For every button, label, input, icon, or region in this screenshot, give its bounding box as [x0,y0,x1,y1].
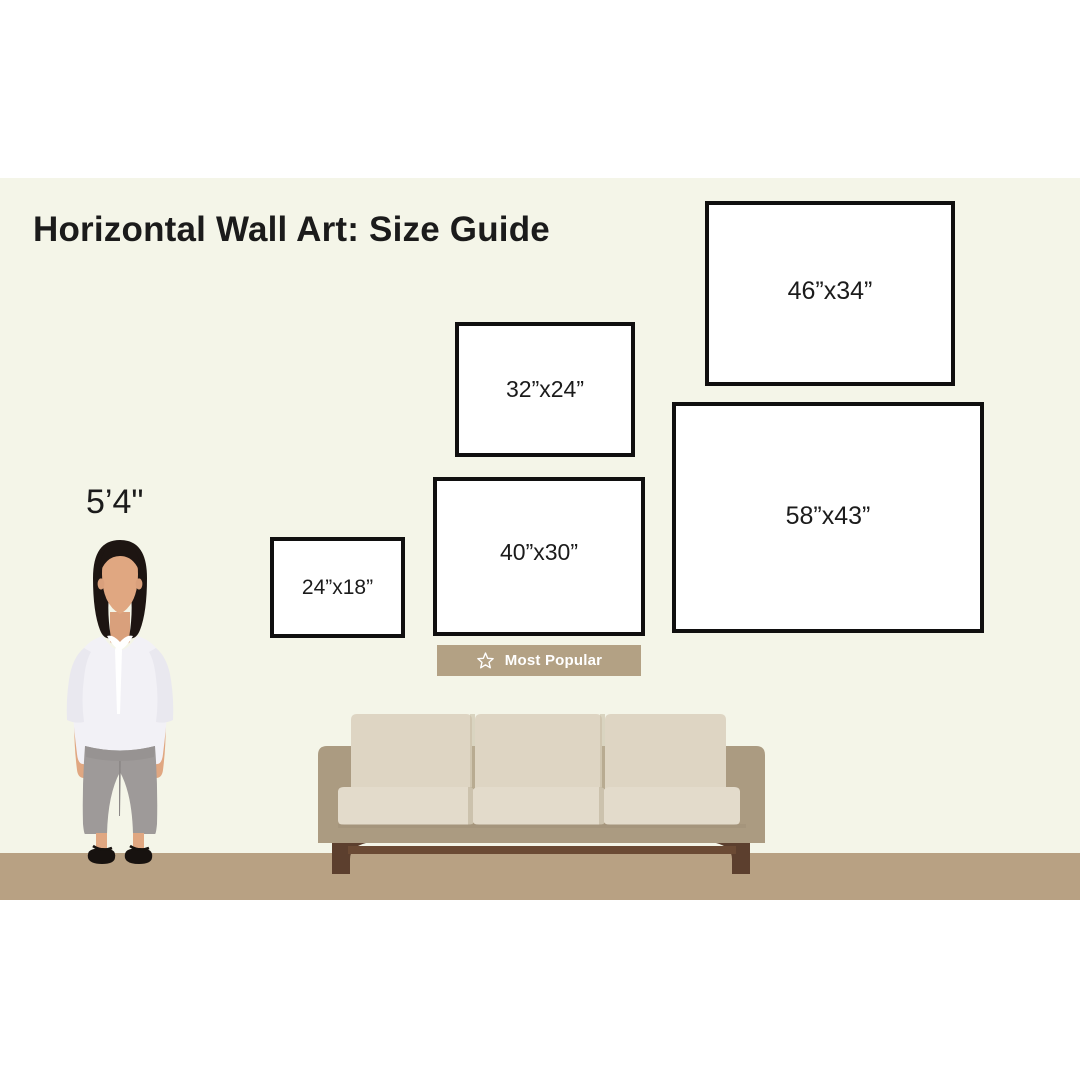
star-icon [476,651,495,670]
most-popular-label: Most Popular [505,652,602,669]
standing-woman-figure [55,536,185,870]
frame-46x34-label: 46”x34” [788,277,873,306]
most-popular-badge[interactable]: Most Popular [437,645,641,676]
frame-24x18-label: 24”x18” [302,576,373,600]
person-height-label: 5’4" [86,483,143,522]
page-title: Horizontal Wall Art: Size Guide [33,210,550,250]
frame-40x30-label: 40”x30” [500,539,578,566]
frame-24x18[interactable]: 24”x18” [270,537,405,638]
frame-58x43[interactable]: 58”x43” [672,402,984,633]
size-guide-canvas: Horizontal Wall Art: Size Guide 5’4" [0,0,1080,1080]
frame-46x34[interactable]: 46”x34” [705,201,955,386]
frame-58x43-label: 58”x43” [786,502,871,531]
three-seat-sofa [318,700,765,875]
frame-32x24-label: 32”x24” [506,376,584,403]
frame-32x24[interactable]: 32”x24” [455,322,635,457]
frame-40x30[interactable]: 40”x30” [433,477,645,636]
